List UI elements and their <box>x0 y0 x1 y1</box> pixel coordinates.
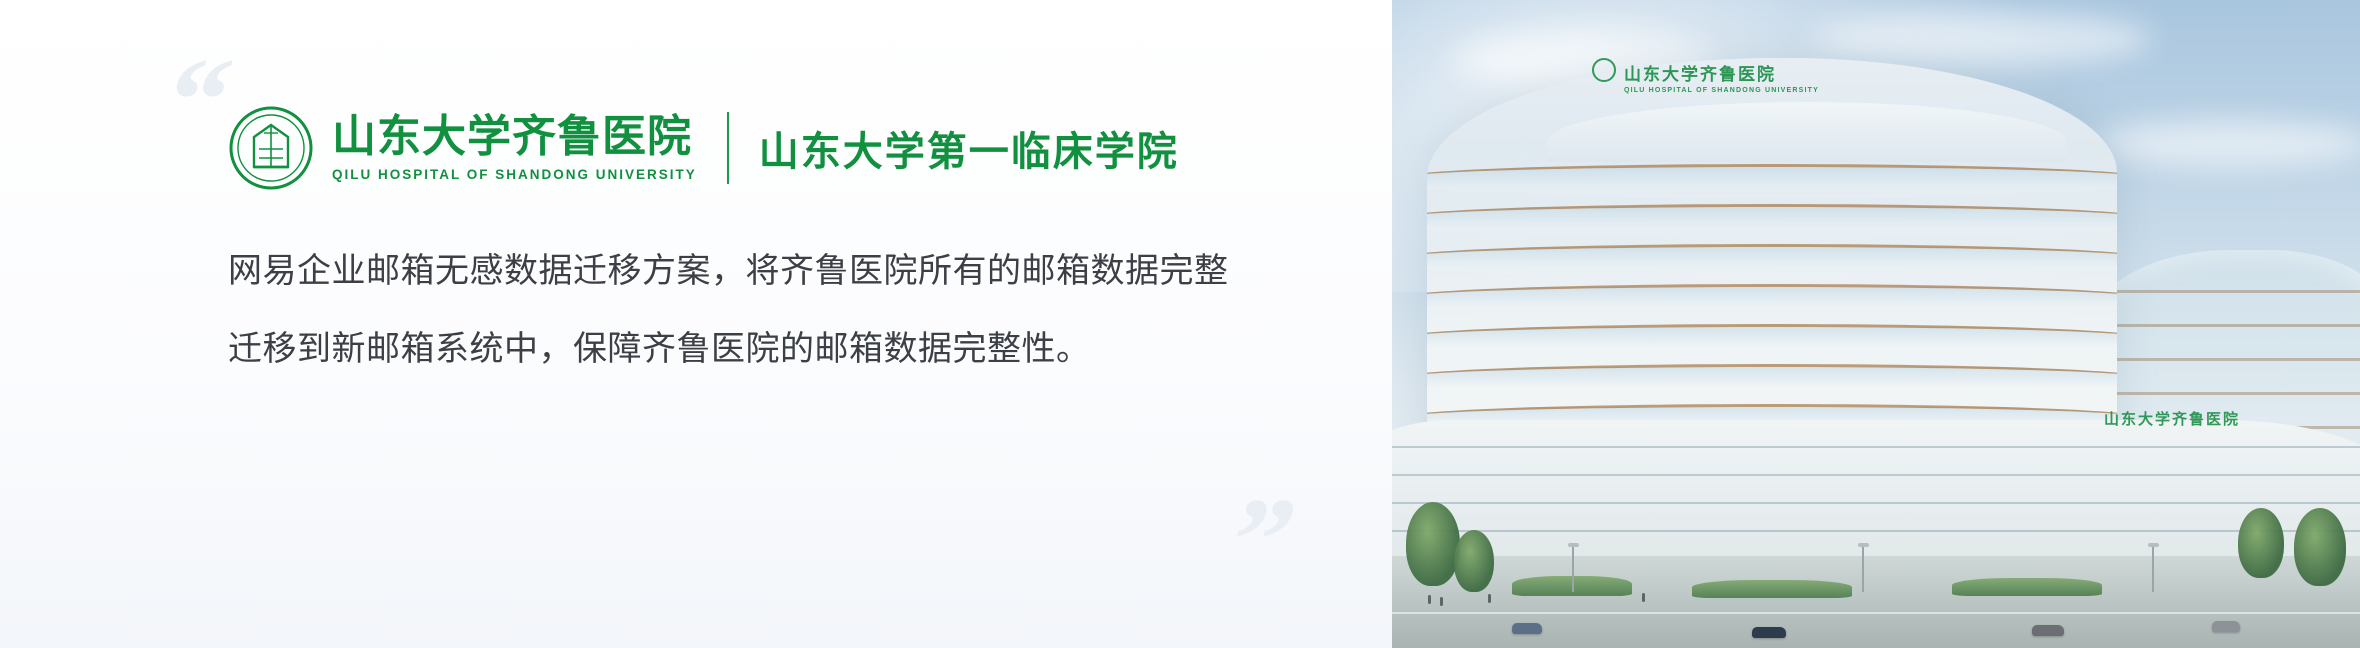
roof-sign-en: QILU HOSPITAL OF SHANDONG UNIVERSITY <box>1624 87 1819 94</box>
cloud-shape <box>2092 120 2360 168</box>
car-shape <box>2212 621 2240 632</box>
ground-plane <box>1392 556 2360 648</box>
person-shape <box>1488 594 1491 603</box>
bush-shape <box>1952 578 2102 596</box>
person-shape <box>1642 593 1645 602</box>
car-shape <box>1752 627 1786 638</box>
hospital-seal-icon <box>228 105 314 191</box>
left-content-panel: “ ” 山东大学齐鲁医院 QILU HOSPITAL OF SHANDONG U… <box>0 0 1392 648</box>
hospital-building-image: 山东大学齐鲁医院 QILU HOSPITAL OF SHANDONG UNIVE… <box>1392 0 2360 648</box>
slide-root: “ ” 山东大学齐鲁医院 QILU HOSPITAL OF SHANDONG U… <box>0 0 2360 648</box>
road-marking <box>1392 612 2360 614</box>
car-shape <box>2032 625 2064 636</box>
quote-open-mark: “ <box>155 40 233 160</box>
hospital-name-en: QILU HOSPITAL OF SHANDONG UNIVERSITY <box>332 167 697 182</box>
tree-shape <box>1454 530 1494 592</box>
description-paragraph: 网易企业邮箱无感数据迁移方案，将齐鲁医院所有的邮箱数据完整迁移到新邮箱系统中，保… <box>228 232 1238 388</box>
street-lamp <box>1862 546 1864 592</box>
person-shape <box>1440 597 1443 606</box>
tree-shape <box>1406 502 1460 586</box>
cloud-shape <box>1812 12 2152 66</box>
person-shape <box>1428 595 1431 604</box>
tree-shape <box>2238 508 2284 578</box>
roof-emblem-icon <box>1592 58 1616 82</box>
roof-sign-cn: 山东大学齐鲁医院 <box>1624 65 1776 84</box>
bush-shape <box>1692 580 1852 598</box>
hospital-name-block: 山东大学齐鲁医院 QILU HOSPITAL OF SHANDONG UNIVE… <box>332 114 697 182</box>
street-lamp <box>1572 546 1574 592</box>
hospital-subtitle-cn: 山东大学第一临床学院 <box>759 119 1179 177</box>
roof-sign-text: 山东大学齐鲁医院 QILU HOSPITAL OF SHANDONG UNIVE… <box>1624 60 1819 94</box>
car-shape <box>1512 623 1542 634</box>
podium-sign-text: 山东大学齐鲁医院 <box>2104 408 2240 429</box>
street-lamp <box>2152 546 2154 592</box>
hospital-name-cn: 山东大学齐鲁医院 <box>332 114 697 160</box>
tree-shape <box>2294 508 2346 586</box>
logo-divider <box>727 112 729 184</box>
quote-close-mark: ” <box>1219 480 1297 600</box>
tower-crown <box>1547 102 2067 162</box>
hospital-logo-lockup: 山东大学齐鲁医院 QILU HOSPITAL OF SHANDONG UNIVE… <box>228 100 1179 196</box>
